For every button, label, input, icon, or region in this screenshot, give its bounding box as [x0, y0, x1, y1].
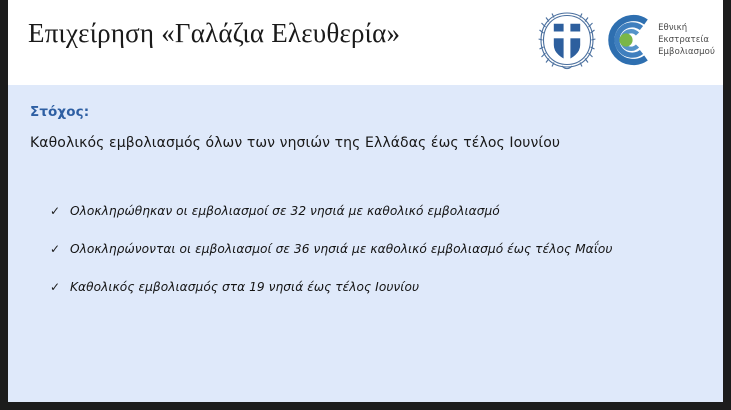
logo-caption-line-3: Εμβολιασμού [658, 46, 715, 58]
greek-coat-of-arms-icon [538, 9, 596, 71]
list-item-label: Καθολικός εμβολιασμός στα 19 νησιά έως τ… [70, 279, 419, 295]
page-title: Επιχείρηση «Γαλάζια Ελευθερία» [28, 18, 400, 49]
logo-caption-line-1: Εθνική [658, 22, 715, 34]
logo-block: Εθνική Εκστρατεία Εμβολιασμού [538, 6, 715, 74]
slide-header: Επιχείρηση «Γαλάζια Ελευθερία» [8, 0, 723, 84]
list-item-label: Ολοκληρώθηκαν οι εμβολιασμοί σε 32 νησιά… [70, 203, 500, 219]
check-icon: ✓ [50, 279, 61, 295]
slide: Επιχείρηση «Γαλάζια Ελευθερία» [8, 0, 723, 402]
logo-caption-line-2: Εκστρατεία [658, 34, 715, 46]
check-icon: ✓ [50, 241, 61, 257]
list-item: ✓ Καθολικός εμβολιασμός στα 19 νησιά έως… [50, 279, 690, 295]
content-panel: Στόχος: Καθολικός εμβολιασμός όλων των ν… [8, 85, 723, 402]
goal-text: Καθολικός εμβολιασμός όλων των νησιών τη… [30, 135, 560, 151]
check-icon: ✓ [50, 203, 61, 219]
bullet-list: ✓ Ολοκληρώθηκαν οι εμβολιασμοί σε 32 νησ… [50, 203, 690, 317]
list-item-label: Ολοκληρώνονται οι εμβολιασμοί σε 36 νησι… [70, 241, 613, 257]
goal-label: Στόχος: [30, 104, 89, 120]
list-item: ✓ Ολοκληρώνονται οι εμβολιασμοί σε 36 νη… [50, 241, 690, 257]
list-item: ✓ Ολοκληρώθηκαν οι εμβολιασμοί σε 32 νησ… [50, 203, 690, 219]
logo-caption: Εθνική Εκστρατεία Εμβολιασμού [656, 22, 715, 59]
vaccination-campaign-icon [600, 11, 652, 69]
slide-frame: Επιχείρηση «Γαλάζια Ελευθερία» [0, 0, 731, 410]
